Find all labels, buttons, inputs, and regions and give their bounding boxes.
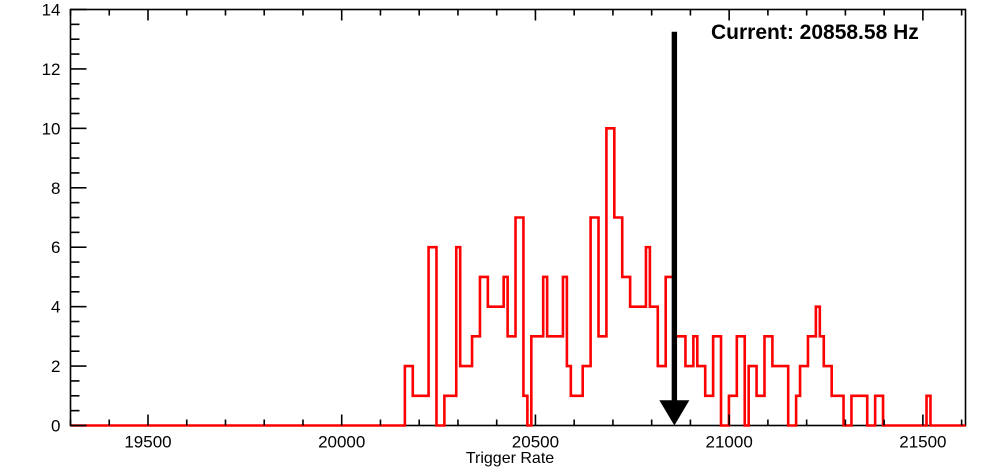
x-tick-label: 21500 xyxy=(899,433,946,452)
y-tick-label: 0 xyxy=(51,417,60,436)
current-marker-arrowhead xyxy=(659,400,689,425)
current-value-label: Current: 20858.58 Hz xyxy=(711,21,919,44)
y-tick-label: 10 xyxy=(42,119,61,138)
x-axis-title: Trigger Rate xyxy=(466,450,554,467)
y-axis-ticks xyxy=(71,10,87,426)
histogram-outline xyxy=(71,128,966,425)
chart-canvas: 1950020000205002100021500 02468101214 Tr… xyxy=(0,0,996,472)
x-tick-label: 21000 xyxy=(706,433,753,452)
y-tick-label: 6 xyxy=(51,238,60,257)
x-tick-label: 20500 xyxy=(512,433,559,452)
x-axis-tick-labels: 1950020000205002100021500 xyxy=(124,433,946,452)
x-tick-label: 19500 xyxy=(124,433,171,452)
trigger-rate-histogram: 1950020000205002100021500 02468101214 Tr… xyxy=(0,0,996,472)
y-tick-label: 12 xyxy=(42,60,61,79)
y-tick-label: 2 xyxy=(51,357,60,376)
x-tick-label: 20000 xyxy=(318,433,365,452)
y-tick-label: 4 xyxy=(51,298,60,317)
y-tick-label: 8 xyxy=(51,179,60,198)
histogram-bins xyxy=(71,128,966,425)
y-tick-label: 14 xyxy=(42,1,61,20)
y-axis-tick-labels: 02468101214 xyxy=(42,1,61,436)
